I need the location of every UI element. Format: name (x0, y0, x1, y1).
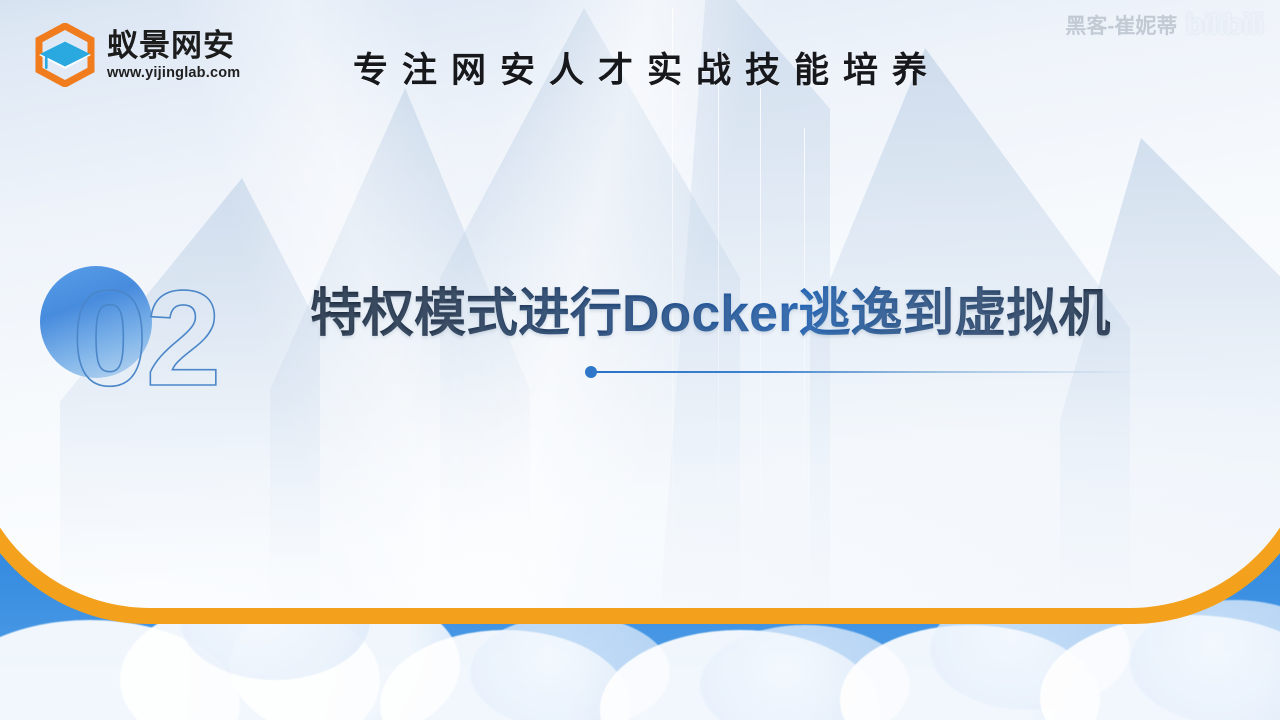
section-number-badge: 02 (40, 258, 270, 438)
bilibili-logo-icon: bilibili (1185, 8, 1264, 42)
building-edge-line (760, 88, 761, 608)
bilibili-watermark: 黑客-崔妮蒂 bilibili (1065, 8, 1264, 42)
underline-line (591, 371, 1140, 373)
slide-header-text: 专注网安人才实战技能培养 (0, 42, 1280, 93)
slide-canvas: 蚁景网安 www.yijinglab.com 专注网安人才实战技能培养 02 特… (0, 0, 1280, 720)
section-number: 02 (72, 270, 219, 406)
underline-dot (585, 366, 597, 378)
title-underline (585, 366, 1140, 378)
page-title: 特权模式进行Docker逃逸到虚拟机 (310, 285, 1110, 343)
watermark-account: 黑客-崔妮蒂 (1065, 10, 1177, 40)
